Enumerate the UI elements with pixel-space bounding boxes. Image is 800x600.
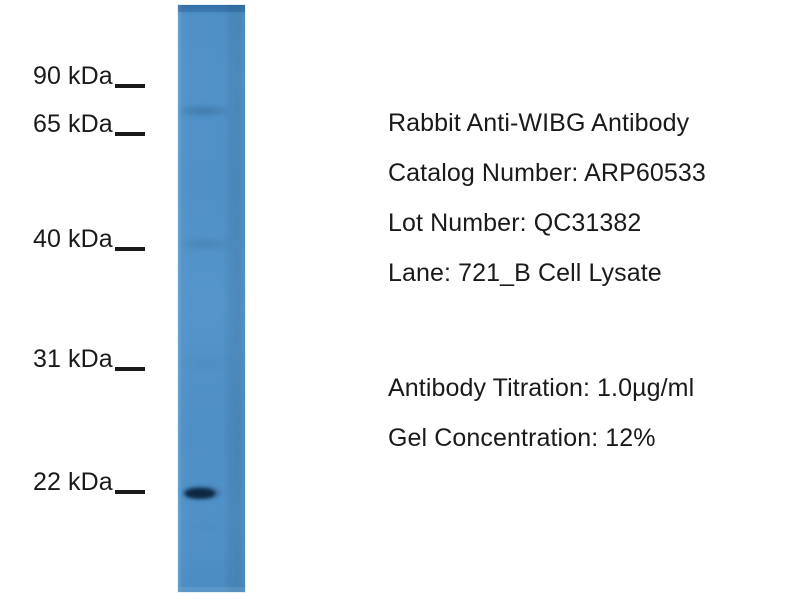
blot-band-nonspecific-mid bbox=[181, 237, 231, 251]
annotation-block-primary: Rabbit Anti-WIBG Antibody Catalog Number… bbox=[388, 98, 788, 298]
annotation-lot-number: Lot Number: QC31382 bbox=[388, 198, 788, 248]
lane-bottom-edge bbox=[178, 587, 245, 592]
ladder-marker-65: 65 kDa bbox=[33, 110, 145, 138]
ladder-tick-40-icon bbox=[115, 247, 145, 251]
blot-band-target-core bbox=[185, 489, 215, 498]
ladder-tick-90-icon bbox=[115, 84, 145, 88]
annotation-lane-description: Lane: 721_B Cell Lysate bbox=[388, 248, 788, 298]
blot-band-nonspecific-31 bbox=[184, 357, 230, 369]
annotation-gel-concentration: Gel Concentration: 12% bbox=[388, 413, 788, 463]
ladder-marker-31: 31 kDa bbox=[33, 345, 145, 373]
annotation-antibody-titration: Antibody Titration: 1.0µg/ml bbox=[388, 363, 788, 413]
ladder-marker-22: 22 kDa bbox=[33, 468, 145, 496]
ladder-tick-22-icon bbox=[115, 490, 145, 494]
lane-top-edge bbox=[178, 5, 245, 12]
ladder-marker-90: 90 kDa bbox=[33, 62, 145, 90]
blot-band-nonspecific-low bbox=[183, 520, 227, 533]
annotation-block-secondary: Antibody Titration: 1.0µg/ml Gel Concent… bbox=[388, 363, 788, 463]
blot-band-nonspecific-upper bbox=[180, 105, 228, 117]
western-blot-figure: 90 kDa 65 kDa 40 kDa 31 kDa 22 kDa Rabbi… bbox=[0, 0, 800, 600]
ladder-tick-31-icon bbox=[115, 367, 145, 371]
ladder-marker-22-label: 22 kDa bbox=[33, 468, 113, 496]
annotation-catalog-number: Catalog Number: ARP60533 bbox=[388, 148, 788, 198]
annotation-antibody-name: Rabbit Anti-WIBG Antibody bbox=[388, 98, 788, 148]
gel-lane bbox=[178, 5, 245, 592]
ladder-marker-40: 40 kDa bbox=[33, 225, 145, 253]
ladder-marker-65-label: 65 kDa bbox=[33, 110, 113, 138]
ladder-tick-65-icon bbox=[115, 132, 145, 136]
ladder-marker-40-label: 40 kDa bbox=[33, 225, 113, 253]
ladder-marker-31-label: 31 kDa bbox=[33, 345, 113, 373]
ladder-marker-90-label: 90 kDa bbox=[33, 62, 113, 90]
